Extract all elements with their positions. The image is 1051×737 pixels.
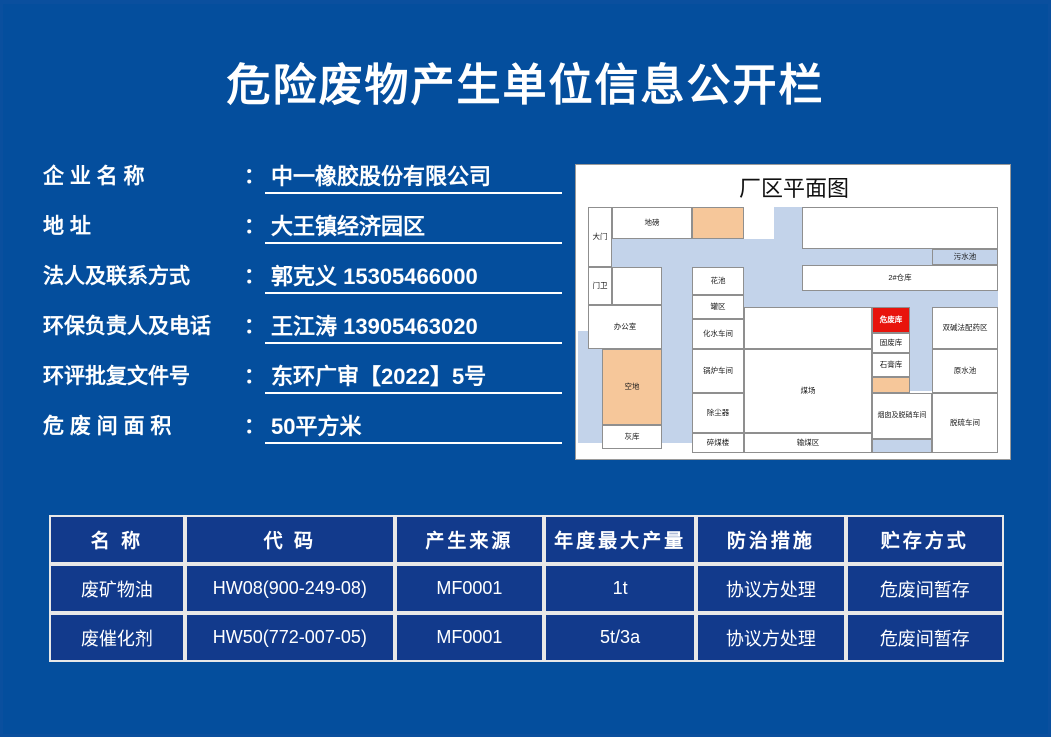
info-label-text: 环保负责人及电话 — [43, 310, 211, 340]
table-header-treatment: 防治措施 — [696, 515, 845, 564]
plan-cell-tank-area: 罐区 — [692, 295, 744, 319]
plan-cell-desulfurization: 脱硫车间 — [932, 393, 998, 453]
info-label-company-name: 企 业 名 称 ： — [43, 160, 265, 190]
plan-title: 厂区平面图 — [576, 171, 1012, 203]
plan-cell-weighbridge-platform — [692, 207, 744, 239]
info-label-colon: ： — [244, 260, 265, 290]
company-info-panel: 企 业 名 称 ： 中一橡胶股份有限公司 地 址 ： 大王镇经济园区 法人及联系… — [43, 156, 563, 456]
road-horizontal-top — [588, 239, 788, 267]
plan-cell-coal-crusher: 碎煤楼 — [692, 433, 744, 453]
table-header-code: 代 码 — [185, 515, 395, 564]
road-vertical-right — [910, 291, 932, 391]
info-label-text: 企 业 名 称 — [43, 160, 145, 190]
info-label-legal-contact: 法人及联系方式 ： — [43, 260, 265, 290]
table-cell-max-output: 5t/3a — [544, 613, 696, 662]
info-underline — [265, 342, 562, 344]
info-row-eia-doc: 环评批复文件号 ： 东环广审【2022】5号 — [43, 356, 563, 406]
info-label-env-officer: 环保负责人及电话 ： — [43, 310, 265, 340]
info-row-legal-contact: 法人及联系方式 ： 郭克义 15305466000 — [43, 256, 563, 306]
table-cell-source: MF0001 — [395, 564, 544, 613]
info-label-colon: ： — [244, 160, 265, 190]
plan-cell-coal-conveying: 输煤区 — [744, 433, 872, 453]
info-underline — [265, 292, 562, 294]
info-label-colon: ： — [244, 210, 265, 240]
plan-cell-guard-yard — [612, 267, 662, 305]
info-value-company-name: 中一橡胶股份有限公司 — [271, 159, 491, 191]
plan-cell-chimney-denitrification: 烟囱及脱硝车间 — [872, 393, 932, 439]
table-header-row: 名 称 代 码 产生来源 年度最大产量 防治措施 贮存方式 — [49, 515, 1004, 564]
table-cell-code: HW50(772-007-05) — [185, 613, 395, 662]
table-cell-treatment: 协议方处理 — [696, 564, 845, 613]
table-header-storage: 贮存方式 — [846, 515, 1004, 564]
table-row: 废催化剂 HW50(772-007-05) MF0001 5t/3a 协议方处理… — [49, 613, 1004, 662]
plan-cell-hazardous-waste: 危废库 — [872, 307, 910, 333]
factory-plan-diagram: 厂区平面图 大门 门卫 办公室 地磅 空地 灰库 花池 罐区 化水车间 锅炉车间… — [575, 164, 1011, 460]
plan-cell-gypsum-yard — [872, 377, 910, 393]
info-value-eia-doc: 东环广审【2022】5号 — [271, 359, 486, 391]
table-cell-storage: 危废间暂存 — [846, 613, 1004, 662]
table-cell-name: 废矿物油 — [49, 564, 185, 613]
plan-cell-yard-upper-blank — [744, 307, 872, 349]
info-value-room-area: 50平方米 — [271, 409, 361, 441]
plan-cell-warehouse2: 2#仓库 — [802, 265, 998, 291]
road-vertical-left — [662, 267, 692, 443]
plan-cell-coal-yard: 煤场 — [744, 349, 872, 433]
table-row: 废矿物油 HW08(900-249-08) MF0001 1t 协议方处理 危废… — [49, 564, 1004, 613]
table-cell-max-output: 1t — [544, 564, 696, 613]
plan-cell-raw-water-pond: 原水池 — [932, 349, 998, 393]
info-label-text: 地 址 — [43, 210, 91, 240]
info-row-room-area: 危 废 间 面 积 ： 50平方米 — [43, 406, 563, 456]
plan-cell-double-alkali: 双碱法配药区 — [932, 307, 998, 349]
plan-cell-guard: 门卫 — [588, 267, 612, 305]
table-cell-source: MF0001 — [395, 613, 544, 662]
info-row-env-officer: 环保负责人及电话 ： 王江涛 13905463020 — [43, 306, 563, 356]
plan-cell-boiler: 锅炉车间 — [692, 349, 744, 393]
table-cell-storage: 危废间暂存 — [846, 564, 1004, 613]
info-underline — [265, 192, 562, 194]
table-cell-treatment: 协议方处理 — [696, 613, 845, 662]
plan-cell-dust-remover: 除尘器 — [692, 393, 744, 433]
info-underline — [265, 392, 562, 394]
table-cell-name: 废催化剂 — [49, 613, 185, 662]
info-label-colon: ： — [244, 310, 265, 340]
info-label-eia-doc: 环评批复文件号 ： — [43, 360, 265, 390]
info-row-company-name: 企 业 名 称 ： 中一橡胶股份有限公司 — [43, 156, 563, 206]
plan-cell-gypsum: 石膏库 — [872, 353, 910, 377]
info-label-text: 法人及联系方式 — [43, 260, 190, 290]
info-row-address: 地 址 ： 大王镇经济园区 — [43, 206, 563, 256]
plan-cell-office: 办公室 — [588, 305, 662, 349]
info-label-address: 地 址 ： — [43, 210, 265, 240]
plan-cell-water-treatment: 化水车间 — [692, 319, 744, 349]
information-board: 危险废物产生单位信息公开栏 企 业 名 称 ： 中一橡胶股份有限公司 地 址 ：… — [3, 4, 1048, 734]
table-header-source: 产生来源 — [395, 515, 544, 564]
info-label-text: 危 废 间 面 积 — [43, 410, 171, 440]
page-title: 危险废物产生单位信息公开栏 — [3, 64, 1048, 108]
plan-cell-weighbridge: 地磅 — [612, 207, 692, 239]
plan-cell-open-ground: 空地 — [602, 349, 662, 425]
table-header-max-output: 年度最大产量 — [544, 515, 696, 564]
plan-cell-gate: 大门 — [588, 207, 612, 267]
info-label-text: 环评批复文件号 — [43, 360, 190, 390]
info-label-colon: ： — [244, 360, 265, 390]
plan-cell-solid-waste: 固废库 — [872, 333, 910, 353]
table-cell-code: HW08(900-249-08) — [185, 564, 395, 613]
info-underline — [265, 242, 562, 244]
info-underline — [265, 442, 562, 444]
info-value-env-officer: 王江涛 13905463020 — [271, 309, 478, 341]
plan-cell-sewage-pond: 污水池 — [932, 249, 998, 265]
road-segment-right-upper — [932, 291, 998, 307]
info-value-address: 大王镇经济园区 — [271, 209, 425, 241]
table-header-name: 名 称 — [49, 515, 185, 564]
info-value-legal-contact: 郭克义 15305466000 — [271, 259, 478, 291]
info-label-room-area: 危 废 间 面 积 ： — [43, 410, 265, 440]
plan-cell-north-blank — [802, 207, 998, 249]
plan-cell-flower-pond: 花池 — [692, 267, 744, 295]
info-label-colon: ： — [244, 410, 265, 440]
plan-cell-bottom-strip — [872, 439, 932, 453]
hazardous-waste-table: 名 称 代 码 产生来源 年度最大产量 防治措施 贮存方式 废矿物油 HW08(… — [49, 515, 1004, 662]
plan-cell-ash-storage: 灰库 — [602, 425, 662, 449]
